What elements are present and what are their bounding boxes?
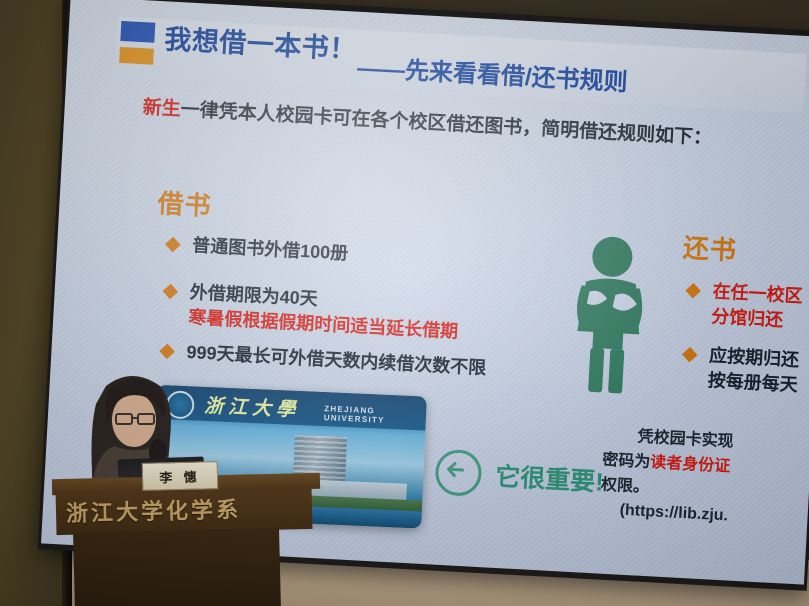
- note-line-2-red: 读者身份证: [650, 454, 731, 475]
- logo-square-orange: [119, 47, 154, 65]
- bullet-return-2: 应按期归还 按每册每天: [682, 342, 800, 398]
- bullet-diamond-icon: [159, 344, 175, 360]
- circle-arrow-left-icon: [434, 449, 482, 497]
- person-holding-books-icon: [550, 228, 669, 404]
- bullet-borrow-3: 999天最长可外借天数内续借次数不限: [161, 339, 487, 381]
- bullet-diamond-icon: [682, 347, 698, 363]
- podium-department-text: 浙江大学化学系: [66, 492, 242, 528]
- bullet-diamond-icon: [165, 237, 181, 253]
- speaker-name: 李 憓: [159, 466, 201, 486]
- bullet-borrow-2-main: 外借期限为40天: [189, 282, 318, 309]
- column-heading-borrow: 借书: [157, 183, 213, 223]
- callout-text: 它很重要!: [494, 457, 604, 499]
- bullet-return-2-line2: 按每册每天: [707, 370, 798, 395]
- lead-rest: 一律凭本人校园卡可在各个校区借还图书，简明借还规则如下：: [180, 99, 712, 149]
- important-callout: 它很重要!: [434, 449, 605, 504]
- bullet-borrow-2-warning: 寒暑假根据假期时间适当延长借期: [188, 305, 459, 344]
- bullet-return-2-line1: 应按期归还: [709, 345, 800, 370]
- bullet-return-1-line1: 在任一校区: [712, 281, 803, 306]
- podium-body: [73, 527, 281, 606]
- bullet-borrow-1: 普通图书外借100册: [167, 232, 349, 267]
- bullet-return-1-line2: 分馆归还: [711, 304, 802, 334]
- bullet-borrow-1-text: 普通图书外借100册: [192, 233, 349, 266]
- photograph: 我想借一本书！ ——先来看看借/还书规则 新生一律凭本人校园卡可在各个校区借还图…: [0, 0, 809, 606]
- note-paragraph: 凭校园卡实现 密码为读者身份证 权限。 (https://lib.zju.: [599, 424, 809, 535]
- speaker-nameplate: 李 憓: [142, 461, 219, 491]
- column-heading-return: 还书: [682, 228, 738, 268]
- bullet-return-2-text: 应按期归还 按每册每天: [707, 343, 800, 397]
- podium: 浙江大学化学系 李 憓: [52, 476, 322, 606]
- bullet-diamond-icon: [163, 284, 179, 300]
- logo-square-blue: [120, 21, 155, 43]
- lead-highlight: 新生: [142, 97, 181, 120]
- bullet-return-1: 在任一校区 分馆归还: [686, 278, 804, 334]
- note-line-2-prefix: 密码为: [602, 451, 651, 471]
- card-university-name-cn: 浙江大學: [204, 391, 301, 422]
- bullet-borrow-3-text: 999天最长可外借天数内续借次数不限: [186, 340, 487, 381]
- logo-mark: [119, 21, 155, 69]
- bullet-borrow-2-text: 外借期限为40天 寒暑假根据假期时间适当延长借期: [188, 280, 460, 344]
- bullet-diamond-icon: [685, 283, 701, 299]
- bullet-borrow-2: 外借期限为40天 寒暑假根据假期时间适当延长借期: [163, 279, 460, 345]
- bullet-return-1-text: 在任一校区 分馆归还: [711, 279, 804, 333]
